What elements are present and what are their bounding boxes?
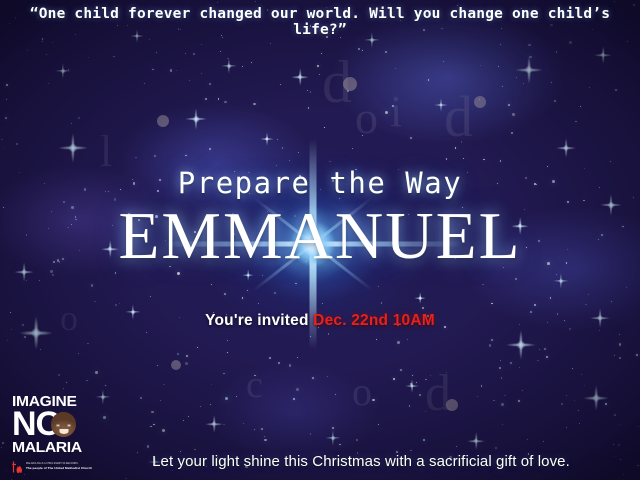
title-emmanuel: EMMANUEL <box>0 203 640 270</box>
poster-canvas: ddoidoclo “One child forever changed our… <box>0 0 640 480</box>
face-smile <box>59 429 68 434</box>
invitation-date: Dec. 22nd 10AM <box>313 312 435 329</box>
child-face-icon <box>51 412 76 437</box>
invitation-prefix: You're invited <box>205 312 309 329</box>
face-eye-left <box>56 424 60 427</box>
umc-endorsement: MALARIA KILLS A CHILD EVERY 60 SECONDS. … <box>12 460 88 474</box>
face-eye-right <box>67 424 71 427</box>
title-prepare-the-way: Prepare the Way <box>0 166 640 200</box>
cross-and-flame-icon <box>12 460 23 474</box>
logo-line-no-row: NO <box>12 409 88 440</box>
umc-tagline-main: The people of The United Methodist Churc… <box>26 467 92 471</box>
headline-quote: “One child forever changed our world. Wi… <box>0 6 640 38</box>
footer-tagline: Let your light shine this Christmas with… <box>96 453 626 470</box>
umc-text-block: MALARIA KILLS A CHILD EVERY 60 SECONDS. … <box>26 463 92 470</box>
logo-line-malaria: MALARIA <box>12 440 92 456</box>
imagine-no-malaria-logo: IMAGINE NO MALARIA MALARIA KILLS A CHILD… <box>12 395 88 474</box>
umc-tagline-top: MALARIA KILLS A CHILD EVERY 60 SECONDS. <box>26 463 92 467</box>
invitation-line: You're invited Dec. 22nd 10AM <box>0 312 640 330</box>
logo-line-no: NO <box>12 409 88 440</box>
